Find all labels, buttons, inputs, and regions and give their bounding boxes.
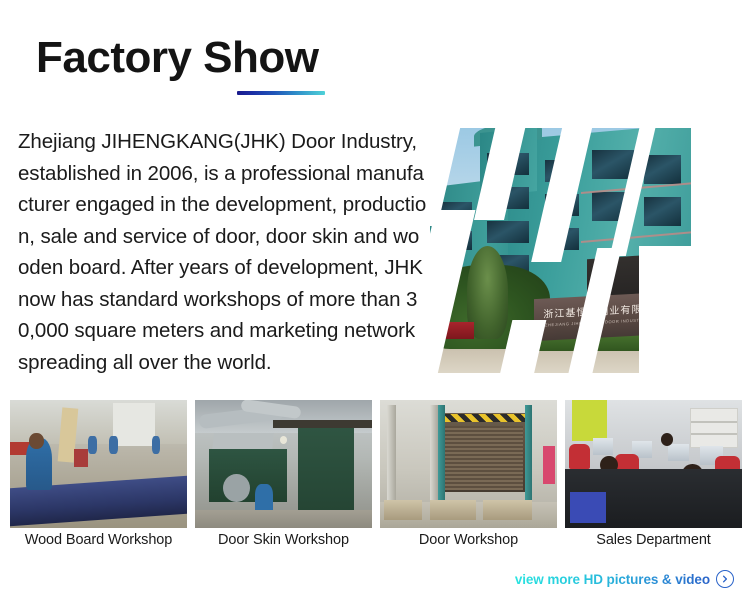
bookshelf [690, 408, 738, 448]
worker-far [88, 436, 97, 454]
window [644, 155, 681, 184]
thumbnail-captions: Wood Board Workshop Door Skin Workshop D… [10, 532, 742, 554]
window [592, 150, 634, 179]
green-wall-panel [572, 400, 607, 441]
thumbnail-door-skin-workshop[interactable] [195, 400, 372, 528]
monitor [593, 438, 612, 455]
hot-press-machine [298, 428, 355, 510]
door-pallet [430, 500, 476, 520]
company-intro-paragraph: Zhejiang JIHENGKANG(JHK) Door Industry, … [18, 126, 430, 378]
workshop-thumbnail-strip [10, 400, 742, 528]
thumbnail-caption: Wood Board Workshop [10, 532, 187, 554]
thumbnail-door-workshop[interactable] [380, 400, 557, 528]
chevron-right-circle-icon[interactable] [716, 570, 734, 588]
view-more-label: view more HD pictures & video [515, 572, 710, 587]
page-title: Factory Show [36, 32, 319, 84]
employee-head [661, 433, 673, 446]
worker-far [152, 436, 161, 454]
thumbnail-wood-board-workshop[interactable] [10, 400, 187, 528]
press-column [387, 405, 396, 505]
worker-far [109, 436, 118, 454]
view-more-link[interactable]: view more HD pictures & video [515, 570, 734, 588]
shelf-divider [691, 433, 737, 435]
factory-hero-image: 浙江基恒康门业有限公司 ZHEJIANG JIHENGKANG DOOR IND… [430, 128, 691, 373]
hazard-stripe [444, 414, 525, 422]
blue-storage-crate [570, 492, 605, 523]
press-frame [438, 405, 445, 502]
worker-head [29, 433, 43, 448]
stacked-door-panels [445, 426, 523, 490]
thumbnail-caption: Sales Department [565, 532, 742, 554]
steel-beam [273, 420, 372, 428]
press-frame [525, 405, 532, 502]
workshop-floor [195, 510, 372, 528]
factory-show-page: Factory Show Zhejiang JIHENGKANG(JHK) Do… [0, 0, 750, 613]
thumbnail-sales-department[interactable] [565, 400, 742, 528]
thumbnail-caption: Door Skin Workshop [195, 532, 372, 554]
window [644, 197, 681, 226]
worker-red-shirt [74, 449, 88, 467]
shelf-divider [691, 421, 737, 423]
roller-door [113, 403, 155, 447]
title-accent-rule [237, 91, 325, 95]
monitor [668, 444, 689, 462]
door-pallet [483, 500, 533, 520]
office-chair [569, 444, 590, 470]
press-column [430, 405, 439, 505]
door-pallet [384, 500, 423, 520]
hero-corner-notch [639, 246, 691, 373]
worker-far [543, 446, 555, 484]
ceiling-lamp [280, 436, 287, 444]
machine-flywheel [223, 474, 250, 502]
window [487, 221, 529, 243]
thumbnail-caption: Door Workshop [380, 532, 557, 554]
